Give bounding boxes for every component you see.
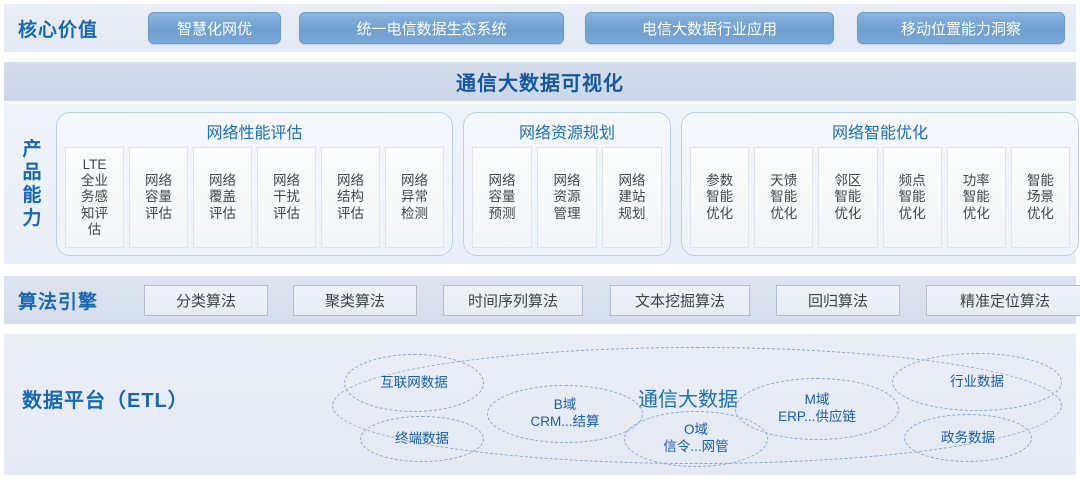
product-capability-row: 产 品 能 力 网络性能评估 LTE 全业 务感 知评 估 网络 容量 评估 网… [4, 104, 1076, 264]
ellipse-terminal-data[interactable]: 终端数据 [360, 416, 484, 462]
core-value-label: 核心价值 [12, 15, 136, 42]
capability-cell[interactable]: 网络 建站 规划 [602, 147, 662, 248]
algorithm-text-mining[interactable]: 文本挖掘算法 [610, 285, 750, 316]
algorithm-time-series[interactable]: 时间序列算法 [443, 285, 583, 316]
capability-cell[interactable]: 网络 资源 管理 [537, 147, 597, 248]
algorithm-list: 分类算法 聚类算法 时间序列算法 文本挖掘算法 回归算法 精准定位算法 ··· [144, 285, 1080, 316]
algorithm-engine-row: 算法引擎 分类算法 聚类算法 时间序列算法 文本挖掘算法 回归算法 精准定位算法… [4, 276, 1076, 324]
algorithm-regression[interactable]: 回归算法 [776, 285, 900, 316]
capability-cell[interactable]: 网络 覆盖 评估 [193, 147, 252, 248]
capability-cell[interactable]: 智能 场景 优化 [1011, 147, 1070, 248]
group-title: 网络性能评估 [65, 116, 444, 147]
algorithm-precise-positioning[interactable]: 精准定位算法 [926, 285, 1080, 316]
product-capability-label: 产 品 能 力 [4, 104, 56, 264]
group-cell-list: 网络 容量 预测 网络 资源 管理 网络 建站 规划 [472, 147, 662, 248]
capability-cell[interactable]: 参数 智能 优化 [690, 147, 749, 248]
core-value-pill-list: 智慧化网优 统一电信数据生态系统 电信大数据行业应用 移动位置能力洞察 [136, 12, 1076, 44]
product-capability-label-char-1: 产 [22, 138, 41, 161]
capability-cell[interactable]: 频点 智能 优化 [883, 147, 942, 248]
product-capability-label-char-3: 能 [22, 184, 41, 207]
ellipse-b-domain[interactable]: B域 CRM...结算 [487, 385, 643, 443]
core-value-pill-unified-telecom-data-ecosystem[interactable]: 统一电信数据生态系统 [299, 12, 564, 44]
product-capability-group-list: 网络性能评估 LTE 全业 务感 知评 估 网络 容量 评估 网络 覆盖 评估 … [56, 104, 1080, 264]
capability-cell[interactable]: LTE 全业 务感 知评 估 [65, 147, 124, 248]
group-network-performance-evaluation: 网络性能评估 LTE 全业 务感 知评 估 网络 容量 评估 网络 覆盖 评估 … [56, 112, 453, 256]
group-title: 网络智能优化 [690, 116, 1070, 147]
capability-cell[interactable]: 天馈 智能 优化 [754, 147, 813, 248]
capability-cell[interactable]: 功率 智能 优化 [947, 147, 1006, 248]
ellipse-industry-data[interactable]: 行业数据 [892, 353, 1062, 411]
group-network-intelligent-optimization: 网络智能优化 参数 智能 优化 天馈 智能 优化 邻区 智能 优化 频点 智能 … [681, 112, 1079, 256]
core-value-pill-mobile-location-capability-insight[interactable]: 移动位置能力洞察 [857, 12, 1065, 44]
ellipse-government-data[interactable]: 政务数据 [904, 414, 1032, 462]
algorithm-clustering[interactable]: 聚类算法 [293, 285, 417, 316]
core-value-pill-telecom-bigdata-industry-application[interactable]: 电信大数据行业应用 [585, 12, 834, 44]
product-capability-label-char-4: 力 [22, 207, 41, 230]
core-value-row: 核心价值 智慧化网优 统一电信数据生态系统 电信大数据行业应用 移动位置能力洞察 [4, 4, 1076, 52]
core-value-pill-smart-network-optimization[interactable]: 智慧化网优 [148, 12, 281, 44]
data-platform-row: 数据平台（ETL） 通信大数据 互联网数据 终端数据 B域 CRM...结算 O… [4, 334, 1076, 475]
capability-cell[interactable]: 网络 异常 检测 [385, 147, 444, 248]
group-cell-list: 参数 智能 优化 天馈 智能 优化 邻区 智能 优化 频点 智能 优化 功率 智… [690, 147, 1070, 248]
group-title: 网络资源规划 [472, 116, 662, 147]
group-network-resource-planning: 网络资源规划 网络 容量 预测 网络 资源 管理 网络 建站 规划 [463, 112, 671, 256]
ellipse-internet-data[interactable]: 互联网数据 [344, 354, 484, 412]
capability-cell[interactable]: 邻区 智能 优化 [818, 147, 877, 248]
capability-cell[interactable]: 网络 容量 评估 [129, 147, 188, 248]
capability-cell[interactable]: 网络 容量 预测 [472, 147, 532, 248]
capability-cell[interactable]: 网络 结构 评估 [321, 147, 380, 248]
algorithm-classification[interactable]: 分类算法 [144, 285, 268, 316]
ellipse-m-domain[interactable]: M域 ERP...供应链 [735, 378, 899, 440]
data-source-venn-diagram: 通信大数据 互联网数据 终端数据 B域 CRM...结算 O域 信令...网管 … [4, 334, 1076, 475]
visualization-title: 通信大数据可视化 [456, 67, 624, 96]
algorithm-engine-label: 算法引擎 [4, 287, 144, 314]
product-capability-label-char-2: 品 [22, 161, 41, 184]
diagram-canvas: 核心价值 智慧化网优 统一电信数据生态系统 电信大数据行业应用 移动位置能力洞察… [0, 0, 1080, 479]
visualization-banner: 通信大数据可视化 [4, 62, 1076, 101]
capability-cell[interactable]: 网络 干扰 评估 [257, 147, 316, 248]
telecom-bigdata-title: 通信大数据 [638, 383, 738, 412]
group-cell-list: LTE 全业 务感 知评 估 网络 容量 评估 网络 覆盖 评估 网络 干扰 评… [65, 147, 444, 248]
